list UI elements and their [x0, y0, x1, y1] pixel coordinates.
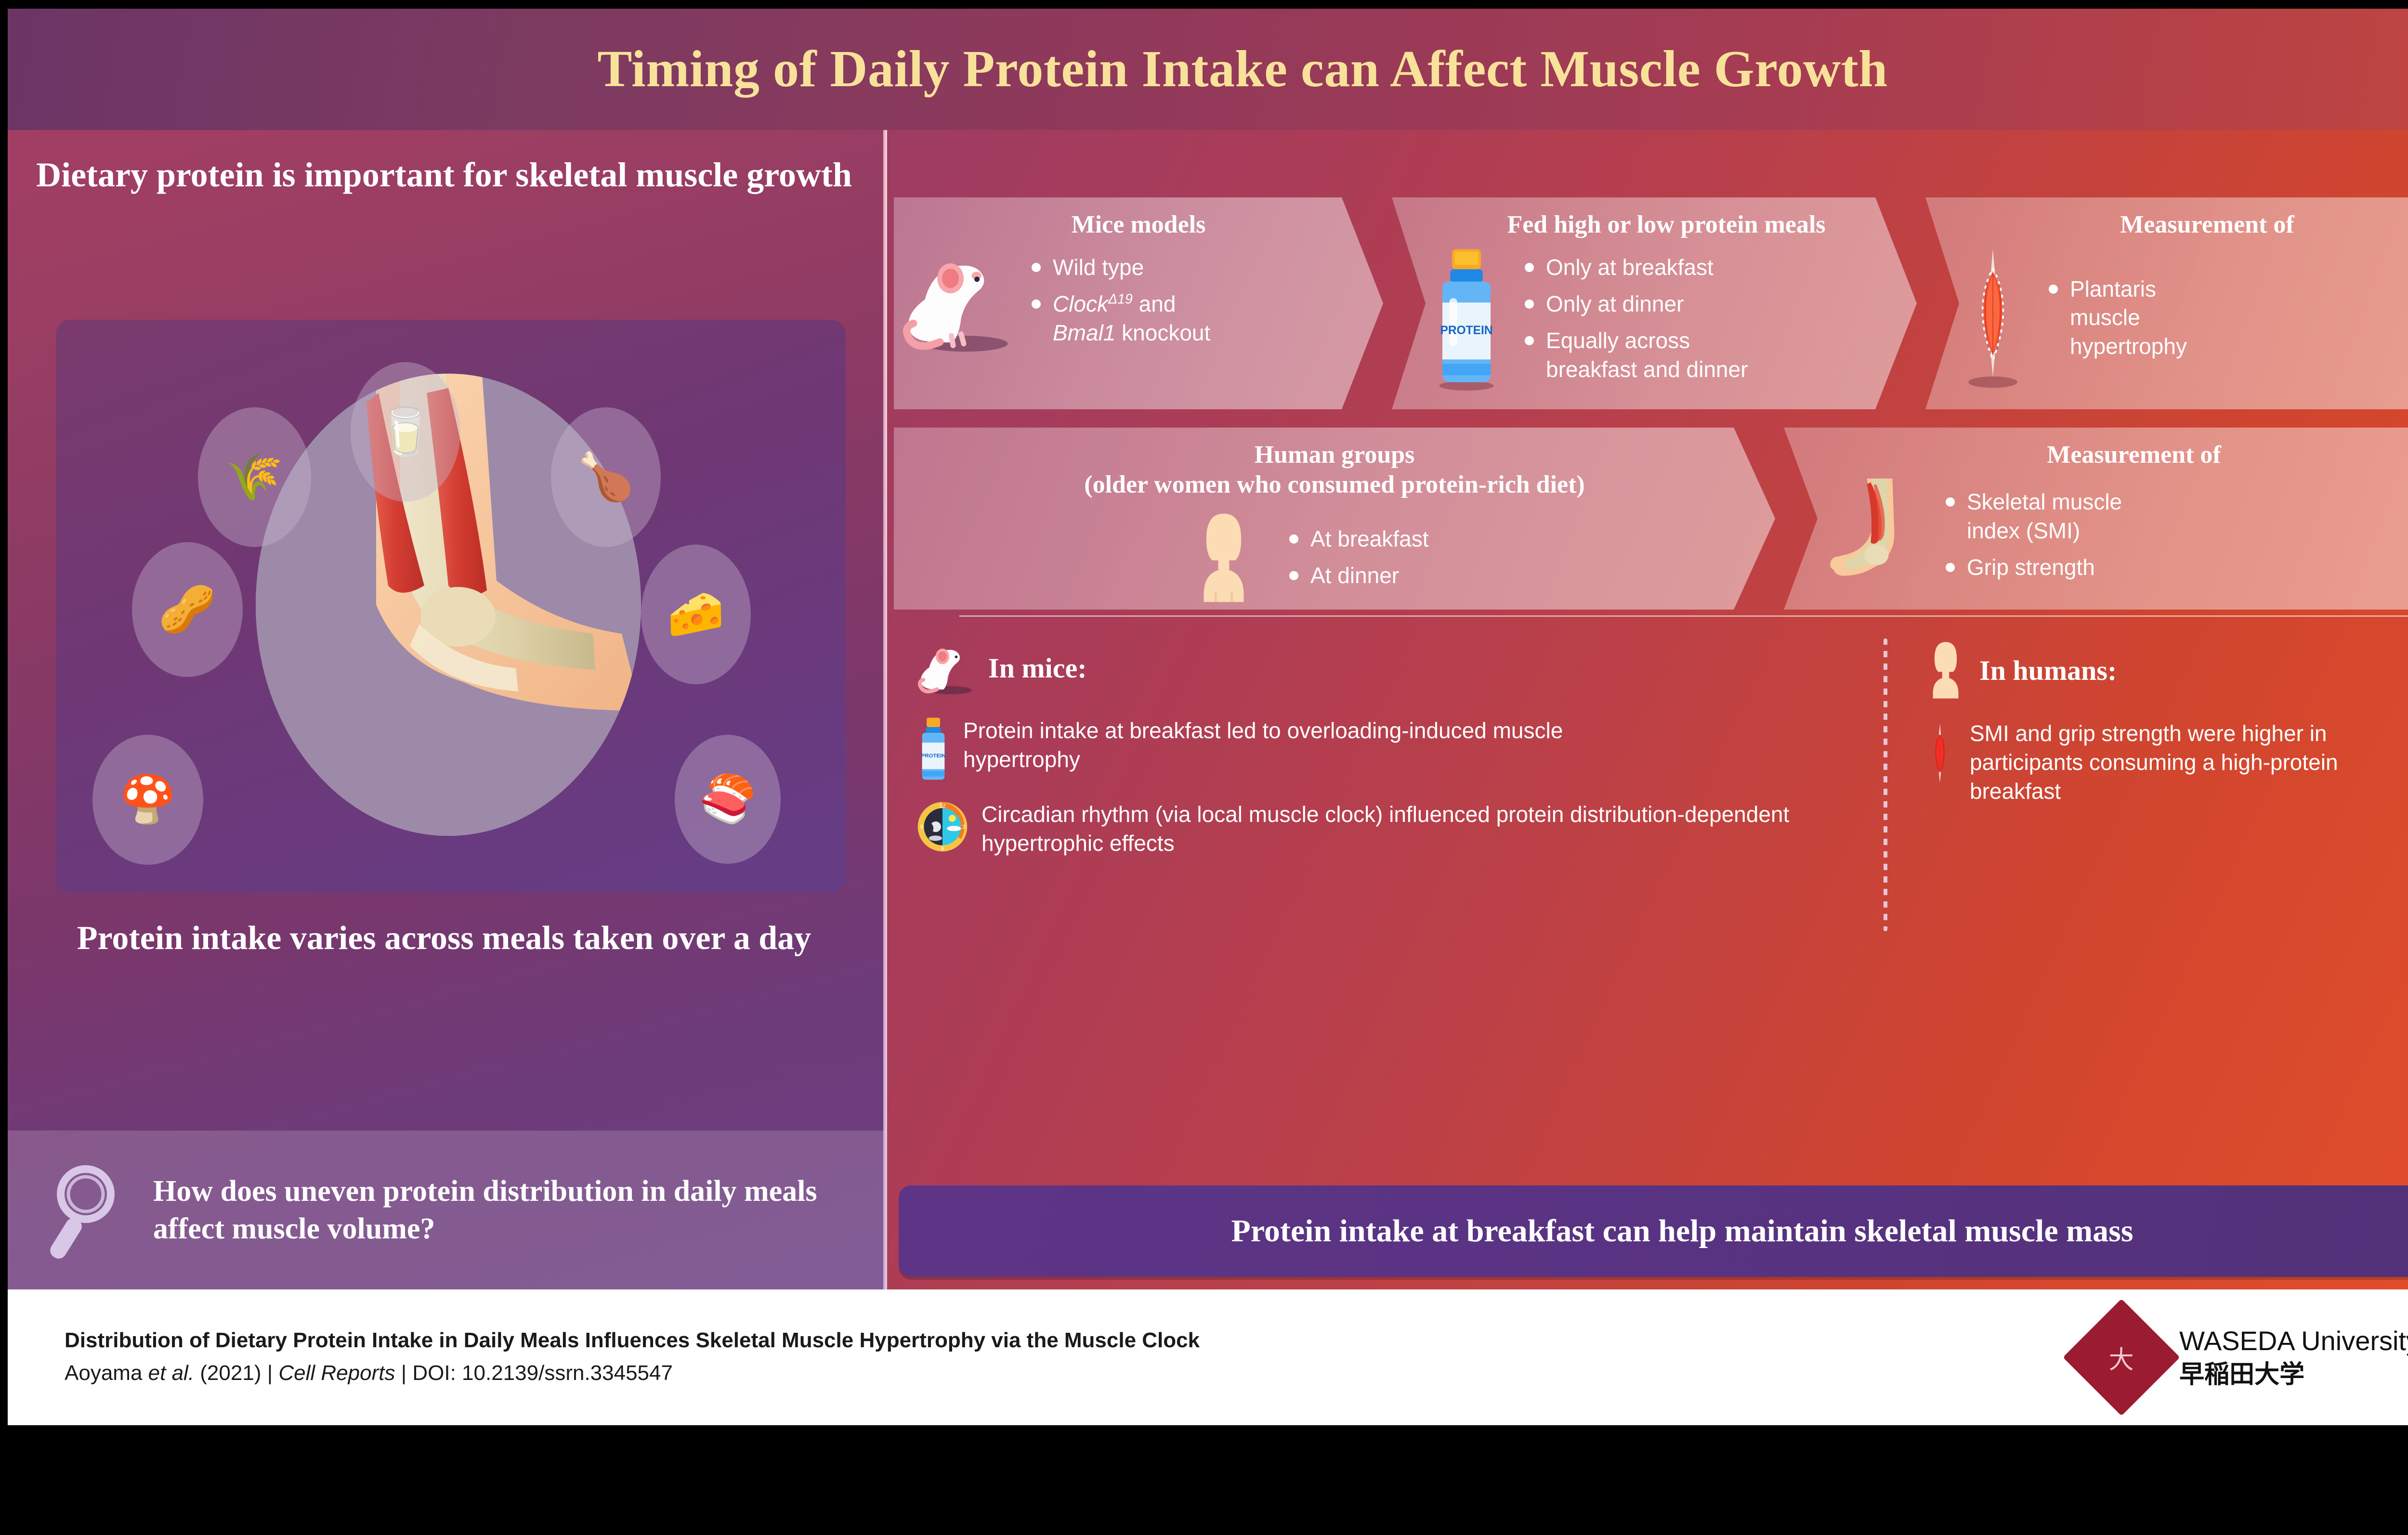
- research-question-text: How does uneven protein distribution in …: [153, 1172, 885, 1248]
- step-bullet-list: Wild type ClockΔ19 andBmal1 knockout: [1029, 246, 1210, 355]
- list-item: Skeletal muscle index (SMI): [1943, 488, 2145, 546]
- conclusion-banner: Protein intake at breakfast can help mai…: [899, 1185, 2408, 1277]
- white-mouse-icon: [916, 640, 978, 695]
- food-bubble-nuts-almonds: 🥜: [132, 542, 243, 677]
- arm-anatomy-svg: [1822, 476, 1933, 594]
- step-bullet-list: At breakfast At dinner: [1286, 517, 1489, 598]
- findings-mice: In mice: PROTEIN Protein intake at break…: [916, 640, 1860, 858]
- logo-text-jp: 早稲田大学: [2179, 1360, 2408, 1390]
- plantaris-svg: [1952, 246, 2034, 390]
- citation-doi: DOI: 10.2139/ssrn.3345547: [412, 1361, 673, 1385]
- citation-authors: Aoyama: [65, 1361, 142, 1385]
- arm-muscle-anatomy-icon: [1818, 476, 1938, 594]
- woman-figure-icon: [1923, 640, 1969, 700]
- food-bubble-cheese-wedge: 🧀: [641, 545, 751, 684]
- list-item: Only at dinner: [1522, 290, 1748, 319]
- woman-figure-icon: [1180, 511, 1267, 605]
- food-bubble-wheat-grain: 🌾: [198, 407, 311, 547]
- food-bubble-milk-bottles: 🥛: [351, 362, 460, 502]
- step-bullet-list: Plantaris muscle hypertrophy: [2046, 267, 2205, 369]
- svg-text:12: 12: [939, 803, 946, 809]
- research-question-band: How does uneven protein distribution in …: [8, 1131, 885, 1289]
- svg-text:PROTEIN: PROTEIN: [921, 753, 946, 759]
- method-step-mice-models: Mice models Wild type: [894, 197, 1383, 409]
- step-title-line1: Human groups: [894, 440, 1775, 470]
- food-bubble-mushrooms: 🍄: [92, 735, 203, 865]
- citation-block: Distribution of Dietary Protein Intake i…: [65, 1326, 1200, 1389]
- left-panel: Dietary protein is important for skeleta…: [8, 130, 885, 1289]
- food-protein-illustration: 🌾 🥛 🍗 🧀 🍣 🍄 🥜: [56, 320, 846, 893]
- step-title: Fed high or low protein meals: [1392, 210, 1917, 240]
- list-item: ClockΔ19 andBmal1 knockout: [1029, 290, 1210, 348]
- food-bubble-poultry-chicken: 🍗: [551, 407, 661, 547]
- finding-item: SMI and grip strength were higher in par…: [1923, 719, 2408, 806]
- clock-superscript: Δ19: [1108, 292, 1133, 307]
- waseda-logo: 大 WASEDA University 早稲田大学: [2080, 1316, 2408, 1399]
- waseda-crest-diamond-icon: 大: [2063, 1299, 2180, 1416]
- protein-bottle-icon: PROTEIN: [1416, 247, 1517, 391]
- method-step-human-groups: Human groups (older women who consumed p…: [894, 428, 1775, 610]
- circadian-clock-icon: 12 3 6 9: [916, 800, 969, 853]
- finding-text: Protein intake at breakfast led to overl…: [963, 716, 1609, 774]
- svg-text:6: 6: [941, 846, 944, 852]
- finding-item: PROTEIN Protein intake at breakfast led …: [916, 716, 1860, 784]
- finding-text: SMI and grip strength were higher in par…: [1970, 719, 2408, 806]
- protein-bottle-icon: PROTEIN: [916, 716, 951, 784]
- method-step-measurement-smi: Measurement of Skeletal muscle index (SM…: [1784, 428, 2408, 610]
- citation-title: Distribution of Dietary Protein Intake i…: [65, 1326, 1200, 1355]
- plantaris-muscle-icon: [1945, 246, 2041, 390]
- infographic-poster: Timing of Daily Protein Intake can Affec…: [8, 9, 2408, 1425]
- step-title: Measurement of: [1925, 210, 2408, 240]
- list-item: At breakfast: [1286, 525, 1489, 554]
- list-item: At dinner: [1286, 561, 1489, 590]
- list-item: Wild type: [1029, 253, 1210, 282]
- findings-divider-rule: [959, 615, 2408, 617]
- conclusion-text: Protein intake at breakfast can help mai…: [1231, 1213, 2133, 1249]
- step-title-line2: (older women who consumed protein-rich d…: [894, 470, 1775, 500]
- findings-mice-header: In mice:: [916, 640, 1860, 695]
- left-subheading: Protein intake varies across meals taken…: [35, 918, 853, 960]
- white-mouse-icon: [894, 247, 1024, 353]
- right-panel: Mice models Wild type: [887, 130, 2408, 1289]
- food-bubble-salmon-steak: 🍣: [675, 735, 781, 864]
- findings-humans-label: In humans:: [1979, 654, 2117, 687]
- magnifier-icon: [41, 1159, 133, 1261]
- method-step-measurement-plantaris: Measurement of Plantaris muscle hypertro…: [1925, 197, 2408, 409]
- step-bullet-list: Skeletal muscle index (SMI) Grip strengt…: [1943, 480, 2145, 589]
- method-step-feeding-protocol: Fed high or low protein meals PROTEIN: [1392, 197, 1917, 409]
- protein-bottle-svg: PROTEIN: [1426, 247, 1507, 391]
- finding-text: Circadian rhythm (via local muscle clock…: [982, 800, 1791, 858]
- list-item: Grip strength: [1943, 553, 2145, 582]
- citation-sep1: |: [267, 1361, 273, 1385]
- crest-glyph: 大: [2109, 1339, 2134, 1375]
- left-heading: Dietary protein is important for skeleta…: [35, 154, 853, 196]
- findings-dotted-divider: [1884, 638, 1887, 931]
- step-title: Measurement of: [1784, 440, 2408, 470]
- logo-text-en: WASEDA University: [2179, 1325, 2408, 1357]
- column-divider: [883, 130, 887, 1289]
- poster-footer: Distribution of Dietary Protein Intake i…: [8, 1289, 2408, 1425]
- bottle-label: PROTEIN: [1440, 324, 1492, 337]
- findings-humans: In humans: SMI and grip strength were hi…: [1923, 640, 2408, 806]
- list-item: Only at breakfast: [1522, 253, 1748, 282]
- citation-year: (2021): [200, 1361, 261, 1385]
- citation-sep2: |: [401, 1361, 406, 1385]
- page-title: Timing of Daily Protein Intake can Affec…: [597, 39, 1887, 99]
- poster-header: Timing of Daily Protein Intake can Affec…: [8, 9, 2408, 130]
- mouse-svg: [899, 247, 1019, 353]
- list-item: Equally across breakfast and dinner: [1522, 326, 1748, 384]
- citation-meta: Aoyama et al. (2021) | Cell Reports | DO…: [65, 1357, 1200, 1389]
- svg-text:9: 9: [920, 824, 924, 831]
- woman-svg: [1188, 511, 1260, 605]
- plantaris-muscle-icon: [1923, 719, 1957, 792]
- finding-item: 12 3 6 9 Circadian rhythm (via local mus…: [916, 800, 1860, 858]
- citation-journal: Cell Reports: [278, 1361, 395, 1385]
- findings-mice-label: In mice:: [988, 652, 1087, 684]
- list-item: Plantaris muscle hypertrophy: [2046, 275, 2205, 361]
- step-bullet-list: Only at breakfast Only at dinner Equally…: [1522, 246, 1748, 391]
- findings-humans-header: In humans:: [1923, 640, 2408, 700]
- svg-text:3: 3: [962, 824, 966, 831]
- step-title: Mice models: [894, 210, 1383, 240]
- citation-etal: et al.: [148, 1361, 194, 1385]
